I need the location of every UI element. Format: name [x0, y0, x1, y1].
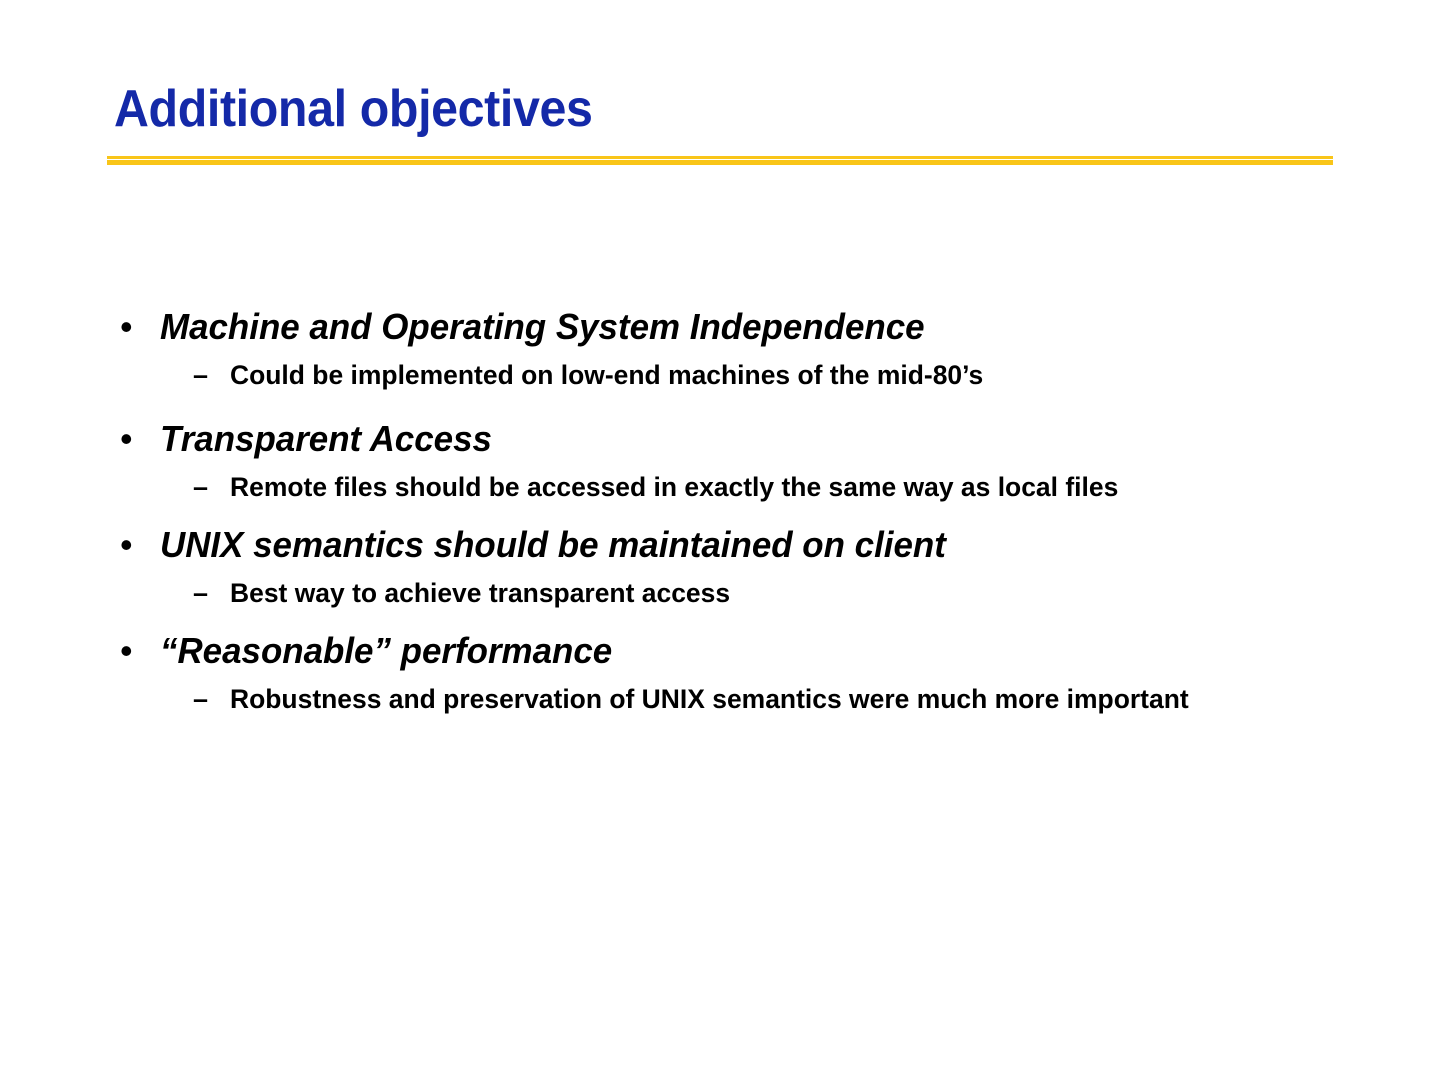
bullet-item-4: • “Reasonable” performance: [0, 629, 1440, 681]
sub-bullet-dash-icon: –: [193, 681, 230, 717]
divider-thick-rule: [107, 160, 1333, 165]
sub-bullet-dash-icon: –: [193, 575, 230, 611]
title-divider: [107, 156, 1333, 168]
bullet-label-2: Transparent Access: [160, 417, 492, 461]
bullet-marker-icon: •: [120, 629, 160, 673]
sub-bullet-item-3: – Best way to achieve transparent access: [0, 575, 1440, 619]
bullet-label-4: “Reasonable” performance: [160, 629, 612, 673]
sub-bullet-dash-icon: –: [193, 469, 230, 505]
sub-bullet-label-4: Robustness and preservation of UNIX sema…: [230, 681, 1189, 717]
page-title: Additional objectives: [114, 80, 593, 138]
sub-bullet-label-2: Remote files should be accessed in exact…: [230, 469, 1118, 505]
sub-bullet-item-1: – Could be implemented on low-end machin…: [0, 357, 1440, 401]
bullet-item-3: • UNIX semantics should be maintained on…: [0, 523, 1440, 575]
bullet-group-3: • UNIX semantics should be maintained on…: [0, 523, 1440, 619]
bullet-marker-icon: •: [120, 305, 160, 349]
bullet-label-3: UNIX semantics should be maintained on c…: [160, 523, 946, 567]
bullet-group-4: • “Reasonable” performance – Robustness …: [0, 629, 1440, 725]
divider-thin-rule: [107, 156, 1333, 159]
slide: Additional objectives • Machine and Oper…: [0, 0, 1440, 1080]
sub-bullet-item-2: – Remote files should be accessed in exa…: [0, 469, 1440, 513]
bullet-item-2: • Transparent Access: [0, 417, 1440, 469]
bullet-label-1: Machine and Operating System Independenc…: [160, 305, 925, 349]
sub-bullet-item-4: – Robustness and preservation of UNIX se…: [0, 681, 1440, 725]
sub-bullet-dash-icon: –: [193, 357, 230, 393]
group-spacer: [0, 401, 1440, 417]
bullet-list: • Machine and Operating System Independe…: [0, 305, 1440, 725]
bullet-group-1: • Machine and Operating System Independe…: [0, 305, 1440, 401]
bullet-marker-icon: •: [120, 417, 160, 461]
group-spacer: [0, 619, 1440, 629]
bullet-group-2: • Transparent Access – Remote files shou…: [0, 417, 1440, 513]
bullet-item-1: • Machine and Operating System Independe…: [0, 305, 1440, 357]
sub-bullet-label-1: Could be implemented on low-end machines…: [230, 357, 983, 393]
sub-bullet-label-3: Best way to achieve transparent access: [230, 575, 730, 611]
bullet-marker-icon: •: [120, 523, 160, 567]
